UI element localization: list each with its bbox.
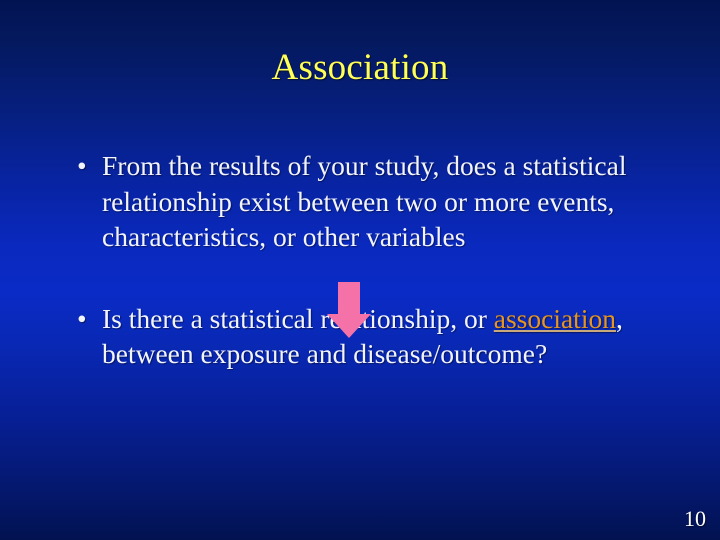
bullet-text-2: Is there a statistical relationship, or … [102, 301, 652, 372]
page-number: 10 [684, 506, 706, 532]
bullet-marker-icon: • [77, 301, 95, 337]
bullet-text-2-part-a: Is there a statistical relationship, or [102, 303, 494, 334]
page-title: Association [0, 46, 720, 90]
bullet-text-1: From the results of your study, does a s… [102, 148, 652, 255]
down-arrow-icon [326, 281, 372, 339]
emphasis-association: association [494, 303, 616, 334]
list-item: • From the results of your study, does a… [72, 148, 652, 255]
slide-canvas: Association • From the results of your s… [0, 0, 720, 540]
bullet-marker-icon: • [77, 148, 95, 184]
